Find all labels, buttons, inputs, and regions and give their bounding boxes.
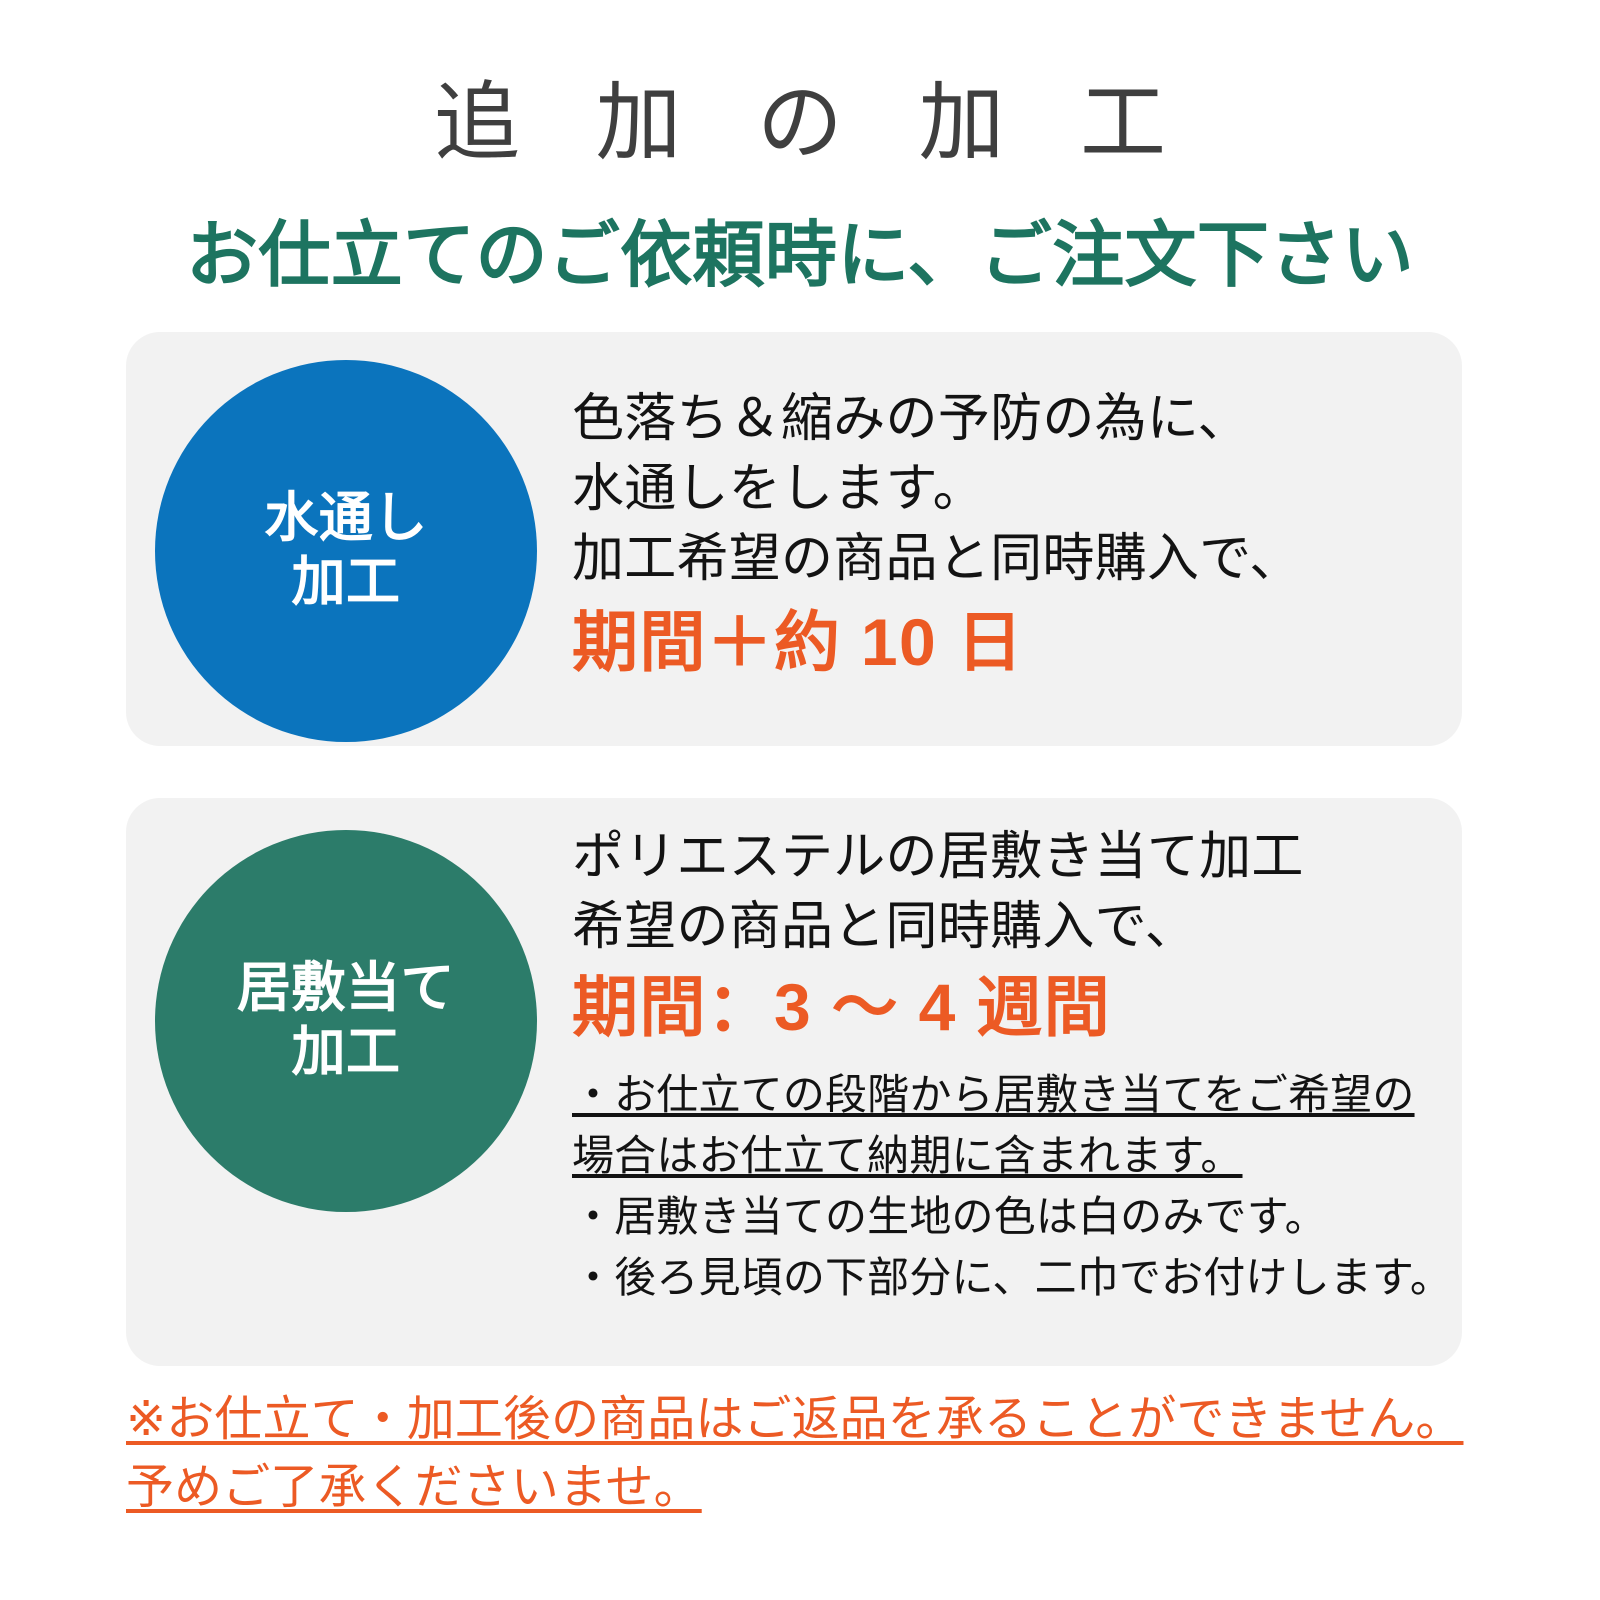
badge-water-label-line1: 水通し bbox=[264, 487, 428, 551]
page-title: 追 加 の 加 工 bbox=[0, 78, 1600, 168]
card-water-duration-highlight: 期間＋約 10 日 bbox=[572, 600, 1302, 684]
badge-water-processing: 水通し 加工 bbox=[155, 360, 537, 742]
note-item: ・後ろ見頃の下部分に、二巾でお付けします。 bbox=[572, 1247, 1452, 1308]
badge-water-label-line2: 加工 bbox=[291, 551, 400, 615]
infographic-page: 追 加 の 加 工 お仕立てのご依頼時に、ご注文下さい 水通し 加工 色落ち＆縮… bbox=[0, 0, 1600, 1600]
card-lining-processing: 居敷当て 加工 ポリエステルの居敷き当て加工 希望の商品と同時購入で、 期間：3… bbox=[126, 798, 1462, 1366]
card-lining-notes: ・お仕立ての段階から居敷き当てをご希望の 場合はお仕立て納期に含まれます。 ・居… bbox=[572, 1064, 1452, 1308]
footer-note-line-2: 予めご了承くださいませ。 bbox=[126, 1454, 702, 1522]
footer-note-row: ※お仕立て・加工後の商品はご返品を承ることができません。 bbox=[126, 1386, 1486, 1454]
card-lining-body: ポリエステルの居敷き当て加工 希望の商品と同時購入で、 期間：3 〜 4 週間 … bbox=[572, 822, 1452, 1308]
card-water-processing: 水通し 加工 色落ち＆縮みの予防の為に、 水通しをします。 加工希望の商品と同時… bbox=[126, 332, 1462, 746]
card-water-body: 色落ち＆縮みの予防の為に、 水通しをします。 加工希望の商品と同時購入で、 期間… bbox=[572, 384, 1302, 684]
card-water-line-1: 色落ち＆縮みの予防の為に、 bbox=[572, 384, 1302, 454]
badge-lining-label-line2: 加工 bbox=[291, 1021, 400, 1085]
card-lining-duration-highlight: 期間：3 〜 4 週間 bbox=[572, 966, 1452, 1048]
card-water-line-2: 水通しをします。 bbox=[572, 454, 1302, 524]
card-water-line-3: 加工希望の商品と同時購入で、 bbox=[572, 524, 1302, 594]
badge-lining-label-line1: 居敷当て bbox=[237, 957, 455, 1021]
subtitle-instruction: お仕立てのご依頼時に、ご注文下さい bbox=[0, 218, 1600, 296]
footer-note-row: 予めご了承くださいませ。 bbox=[126, 1454, 1486, 1522]
badge-lining-processing: 居敷当て 加工 bbox=[155, 830, 537, 1212]
card-lining-line-2: 希望の商品と同時購入で、 bbox=[572, 892, 1452, 962]
note-item: ・居敷き当ての生地の色は白のみです。 bbox=[572, 1186, 1452, 1247]
card-lining-line-1: ポリエステルの居敷き当て加工 bbox=[572, 822, 1452, 892]
footer-return-policy-note: ※お仕立て・加工後の商品はご返品を承ることができません。 予めご了承くださいませ… bbox=[126, 1386, 1486, 1522]
note-item: ・お仕立ての段階から居敷き当てをご希望の bbox=[572, 1064, 1452, 1125]
note-item: 場合はお仕立て納期に含まれます。 bbox=[572, 1125, 1452, 1186]
footer-note-line-1: ※お仕立て・加工後の商品はご返品を承ることができません。 bbox=[126, 1386, 1463, 1454]
